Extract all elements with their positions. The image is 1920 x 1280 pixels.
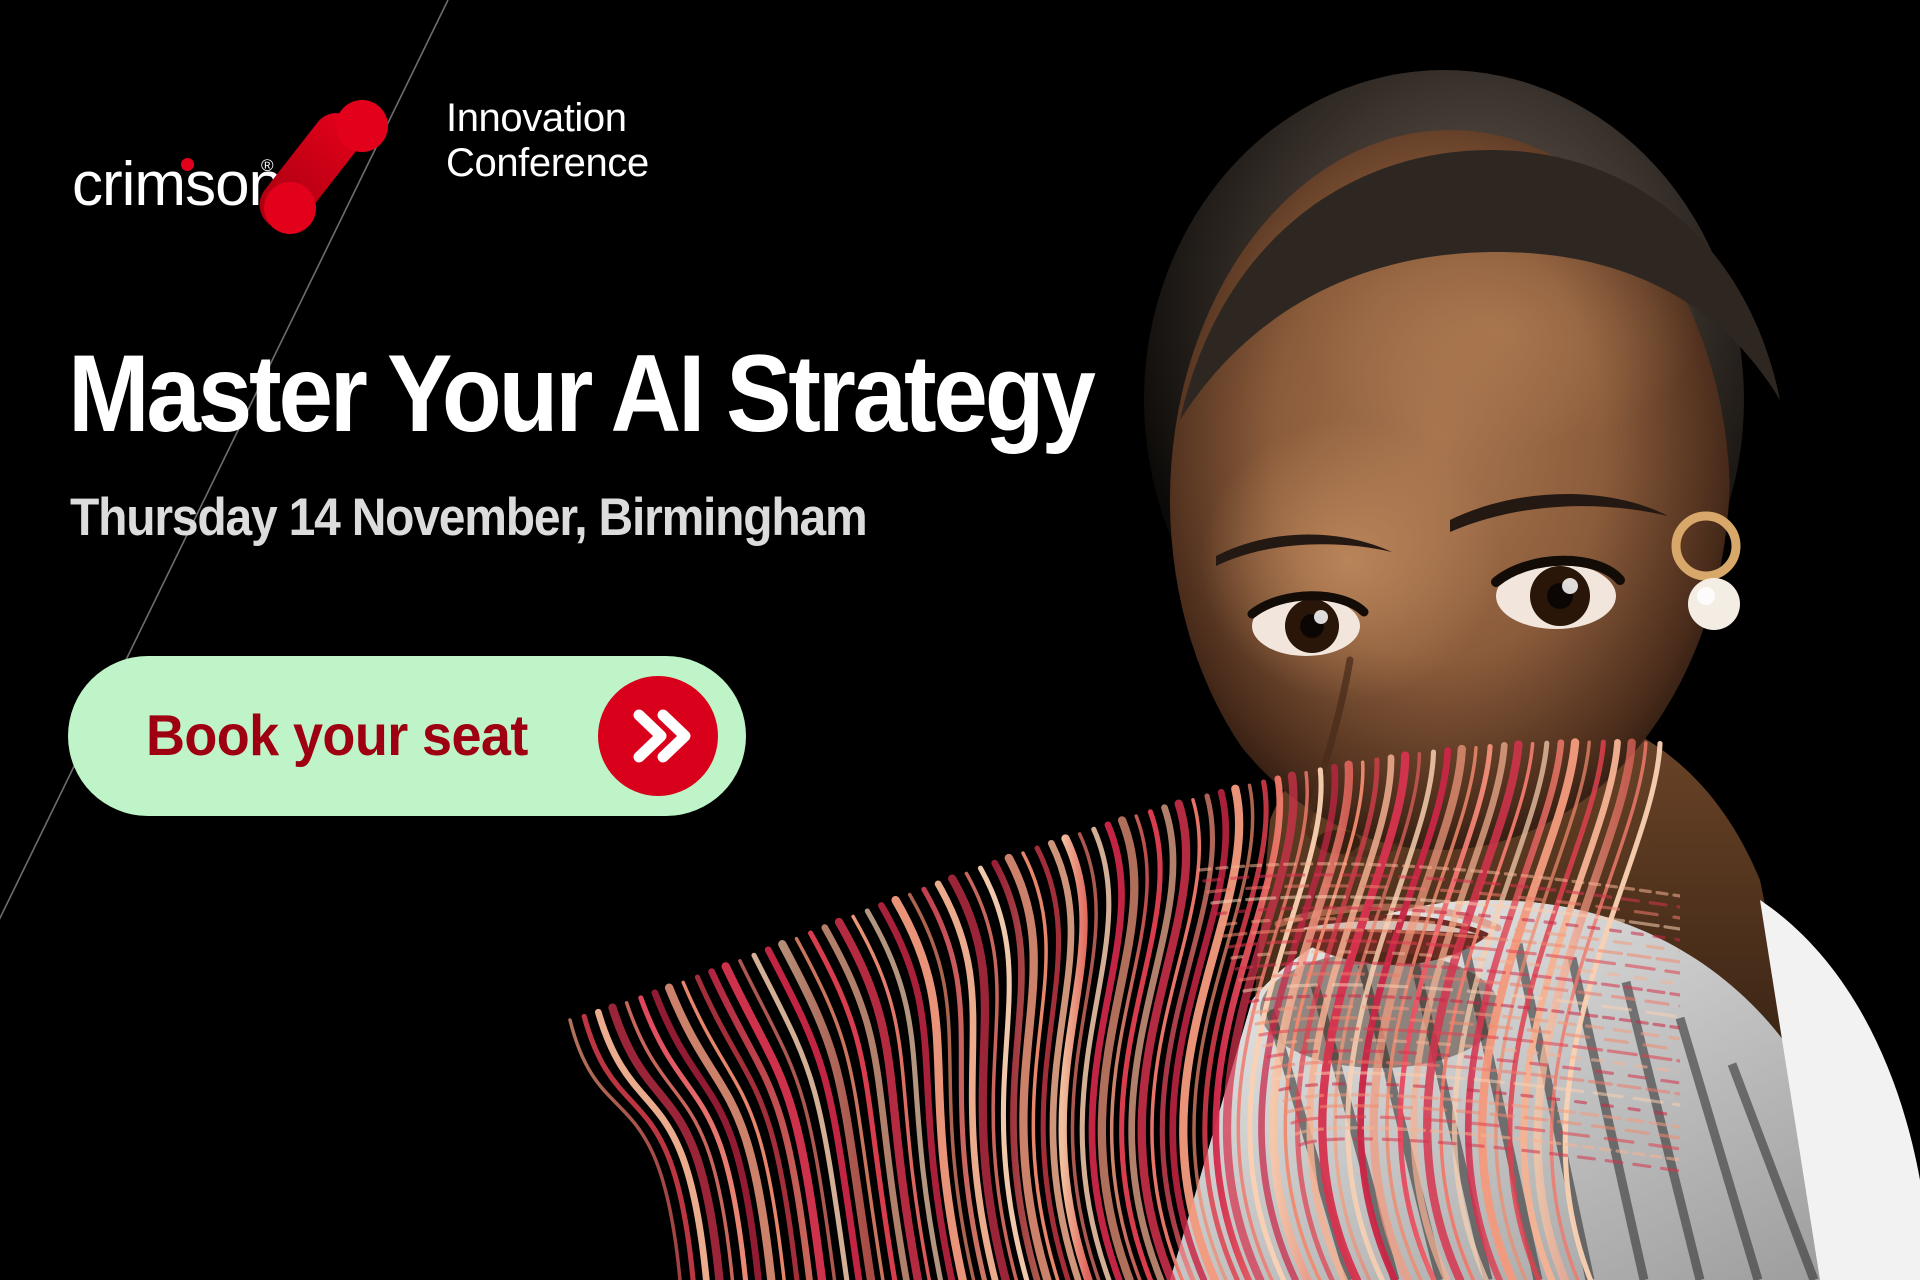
speaker-portrait-image — [1020, 0, 1920, 1280]
cta-label: Book your seat — [146, 703, 528, 769]
hero-headline: Master Your AI Strategy — [68, 338, 1093, 448]
crimson-capsule-icon — [268, 98, 418, 224]
crimson-logo-lockup[interactable]: crimson ® Innovation Conference — [72, 96, 712, 224]
conference-line-1: Innovation — [446, 96, 649, 141]
conference-name: Innovation Conference — [446, 96, 649, 186]
double-chevron-right-icon[interactable] — [598, 676, 718, 796]
event-promo-banner: crimson ® Innovation Conference Master Y… — [0, 0, 1920, 1280]
conference-line-2: Conference — [446, 141, 649, 186]
book-your-seat-button[interactable]: Book your seat — [68, 656, 746, 816]
crimson-i-dot-icon — [181, 158, 194, 171]
hero-subtitle-date-location: Thursday 14 November, Birmingham — [70, 492, 867, 545]
crimson-wordmark: crimson — [72, 154, 282, 216]
